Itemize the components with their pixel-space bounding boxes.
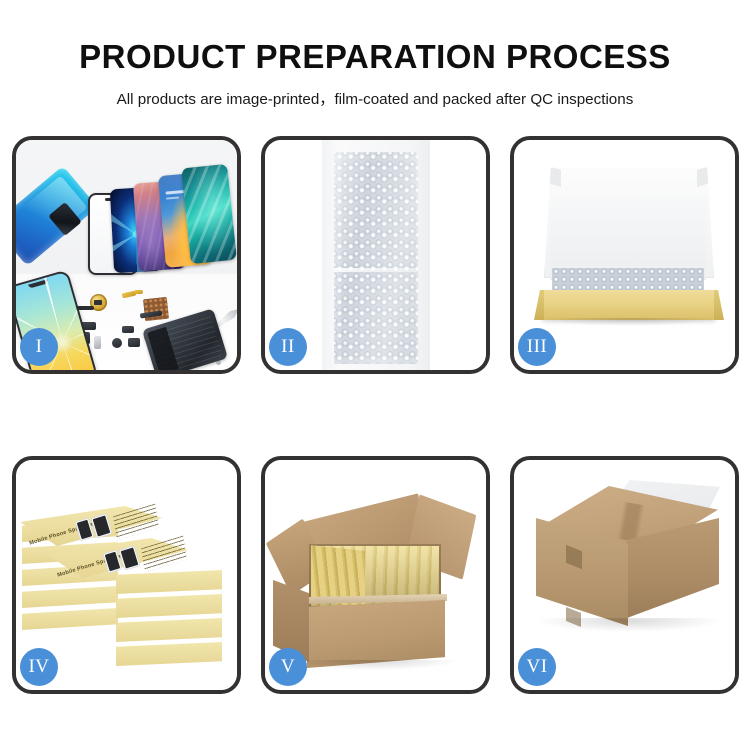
process-step-panel-1: I (12, 136, 241, 374)
kraft-box-r3 (116, 618, 222, 642)
step-badge-2: II (269, 328, 307, 366)
bubble-wrap-sheet (334, 152, 418, 364)
process-step-panel-3: III (510, 136, 739, 374)
phone-status-bar-secondary (166, 196, 179, 199)
kraft-box-r1 (116, 570, 222, 594)
process-step-panel-6: VI (510, 456, 739, 694)
phone-teal-wallpaper (181, 164, 237, 264)
step-badge-4: IV (20, 648, 58, 686)
step-badge-3: III (518, 328, 556, 366)
sealed-carton-shadow (536, 618, 722, 632)
sim-tray-part (94, 336, 101, 349)
step-badge-6: VI (518, 648, 556, 686)
page-subtitle: All products are image-printed，film-coat… (0, 87, 750, 109)
mailer-box-shadow (540, 318, 720, 326)
carton-shadow (289, 660, 459, 670)
carton-front-wall (307, 600, 445, 668)
product-preparation-page: PRODUCT PREPARATION PROCESS All products… (0, 0, 750, 750)
step-badge-5: V (269, 648, 307, 686)
kraft-box-r2 (116, 594, 222, 618)
camera-module-part (112, 338, 122, 348)
process-step-grid: I II III (12, 136, 738, 694)
shield-plate-part (122, 326, 134, 333)
kraft-box-r4 (116, 642, 222, 666)
page-title: PRODUCT PREPARATION PROCESS (0, 38, 750, 76)
speaker-part (128, 338, 140, 347)
process-step-panel-2: II (261, 136, 490, 374)
process-step-panel-4: Mobile Phone Spare Parts Mobile Phone Sp… (12, 456, 241, 694)
mailer-box-front-wall (542, 290, 716, 320)
kraft-box-l4 (22, 586, 118, 608)
process-step-panel-5: V (261, 456, 490, 694)
step-badge-1: I (20, 328, 58, 366)
page-header: PRODUCT PREPARATION PROCESS All products… (0, 0, 750, 109)
bubble-wrap-seam (334, 268, 418, 272)
kraft-box-l5 (22, 608, 118, 630)
flex-cable-part-b (134, 290, 143, 294)
